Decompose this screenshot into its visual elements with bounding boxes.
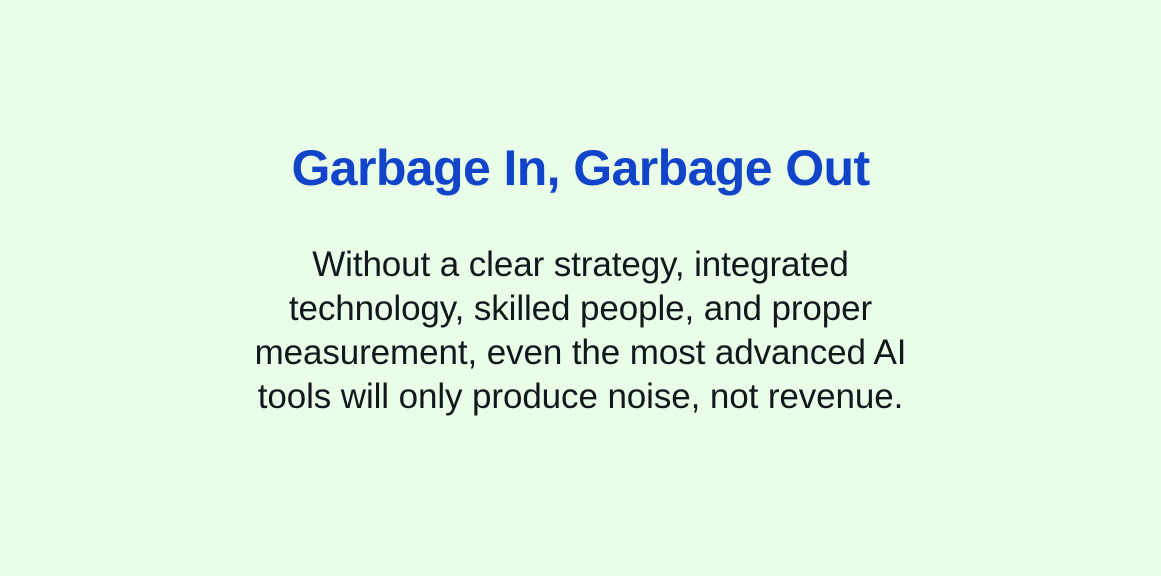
slide-subhead: Without a clear strategy, integrated tec… xyxy=(255,243,907,419)
slide-headline: Garbage In, Garbage Out xyxy=(292,140,870,196)
subhead-line-2: technology, skilled people, and proper xyxy=(255,287,907,331)
subhead-line-1: Without a clear strategy, integrated xyxy=(255,243,907,287)
slide-content-block: Garbage In, Garbage Out Without a clear … xyxy=(166,140,996,419)
subhead-line-4: tools will only produce noise, not reven… xyxy=(255,375,907,419)
subhead-line-3: measurement, even the most advanced AI xyxy=(255,331,907,375)
slide-canvas: Garbage In, Garbage Out Without a clear … xyxy=(0,0,1161,576)
